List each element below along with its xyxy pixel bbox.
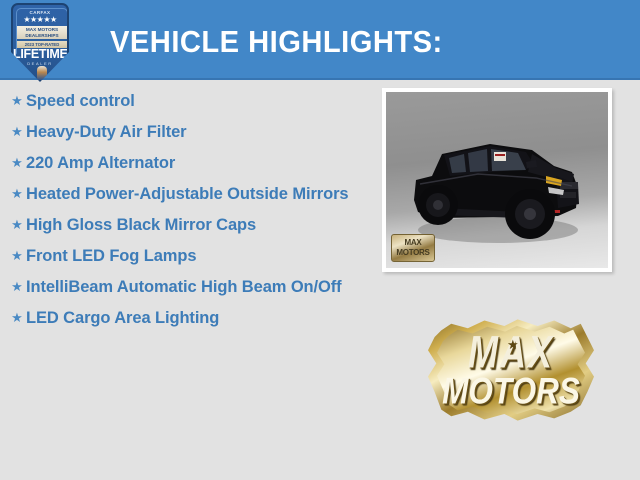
list-item: ★ Heated Power-Adjustable Outside Mirror…	[8, 183, 368, 205]
list-item: ★ IntelliBeam Automatic High Beam On/Off	[8, 276, 368, 298]
list-item-label: IntelliBeam Automatic High Beam On/Off	[26, 276, 342, 298]
shield-icon: CARFAX ★★★★★ MAX MOTORS DEALERSHIPS 2023…	[11, 3, 69, 82]
list-item-label: Front LED Fog Lamps	[26, 245, 196, 267]
list-item-label: Heavy-Duty Air Filter	[26, 121, 187, 143]
badge-headline: LIFETIME	[13, 48, 67, 61]
list-item-label: High Gloss Black Mirror Caps	[26, 214, 256, 236]
star-bullet-icon: ★	[8, 90, 26, 112]
vehicle-photo: MAX MOTORS	[386, 92, 608, 268]
star-bullet-icon: ★	[8, 276, 26, 298]
list-item-label: LED Cargo Area Lighting	[26, 307, 219, 329]
watermark-line1: MAX	[392, 238, 434, 248]
logo-line-motors: MOTORS	[424, 374, 598, 411]
max-motors-dealer-logo: MAX ★ MOTORS	[428, 315, 594, 425]
list-item: ★ 220 Amp Alternator	[8, 152, 368, 174]
carfax-top-rated-dealer-badge: CARFAX ★★★★★ MAX MOTORS DEALERSHIPS 2023…	[11, 3, 69, 82]
list-item-label: Speed control	[26, 90, 135, 112]
star-bullet-icon: ★	[8, 121, 26, 143]
list-item: ★ LED Cargo Area Lighting	[8, 307, 368, 329]
list-item: ★ Heavy-Duty Air Filter	[8, 121, 368, 143]
page-header: VEHICLE HIGHLIGHTS: CARFAX ★★★★★ MAX MOT…	[0, 0, 640, 80]
list-item: ★ Front LED Fog Lamps	[8, 245, 368, 267]
list-item: ★ High Gloss Black Mirror Caps	[8, 214, 368, 236]
list-item-label: 220 Amp Alternator	[26, 152, 175, 174]
logo-star-icon: ★	[507, 338, 519, 351]
star-bullet-icon: ★	[8, 245, 26, 267]
list-item: ★ Speed control	[8, 90, 368, 112]
photo-watermark-logo: MAX MOTORS	[391, 234, 435, 262]
star-bullet-icon: ★	[8, 183, 26, 205]
badge-line2: DEALERSHIPS	[17, 33, 67, 39]
star-bullet-icon: ★	[8, 152, 26, 174]
list-item-label: Heated Power-Adjustable Outside Mirrors	[26, 183, 349, 205]
watermark-line2: MOTORS	[392, 248, 434, 258]
star-bullet-icon: ★	[8, 214, 26, 236]
badge-dealership-band: MAX MOTORS DEALERSHIPS	[17, 26, 67, 39]
five-stars-icon: ★★★★★	[13, 15, 67, 24]
star-bullet-icon: ★	[8, 307, 26, 329]
vehicle-highlights-list: ★ Speed control ★ Heavy-Duty Air Filter …	[8, 90, 368, 338]
page-title: VEHICLE HIGHLIGHTS:	[110, 24, 443, 60]
award-figure-icon	[37, 66, 47, 80]
vehicle-photo-frame: MAX MOTORS	[382, 88, 612, 272]
